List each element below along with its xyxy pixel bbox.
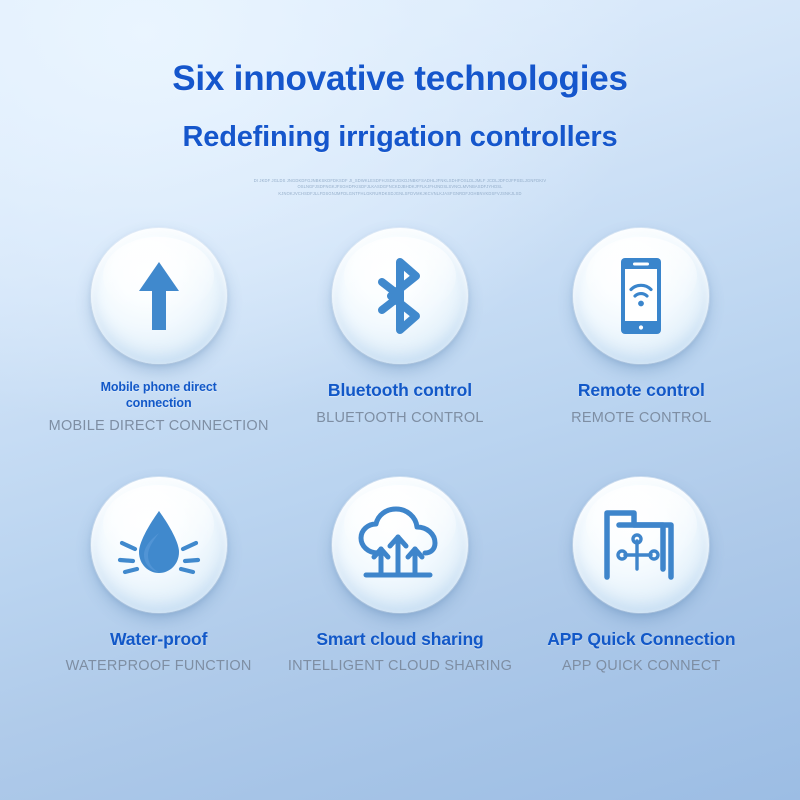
feature-title: APP Quick Connection: [521, 629, 762, 650]
feature-title-line-1: Mobile phone direct: [101, 380, 217, 394]
feature-title: Smart cloud sharing: [279, 629, 520, 650]
folder-network-icon: [601, 507, 681, 583]
feature-icon-bubble: [332, 228, 468, 364]
feature-subtitle: BLUETOOTH CONTROL: [279, 410, 520, 427]
feature-icon-bubble: [332, 477, 468, 613]
feature-labels: Remote control REMOTE CONTROL: [521, 380, 762, 427]
feature-card-mobile-direct-connection: Mobile phone direct connection MOBILE DI…: [38, 228, 279, 435]
feature-card-bluetooth-control: Bluetooth control BLUETOOTH CONTROL: [279, 228, 520, 435]
feature-subtitle: INTELLIGENT CLOUD SHARING: [279, 658, 520, 675]
feature-subtitle: REMOTE CONTROL: [521, 410, 762, 427]
feature-subtitle: APP QUICK CONNECT: [521, 658, 762, 675]
feature-labels: Bluetooth control BLUETOOTH CONTROL: [279, 380, 520, 427]
feature-labels: APP Quick Connection APP QUICK CONNECT: [521, 629, 762, 676]
poster-root: Six innovative technologies Redefining i…: [0, 0, 800, 800]
feature-card-waterproof: Water-proof WATERPROOF FUNCTION: [38, 477, 279, 676]
feature-labels: Smart cloud sharing INTELLIGENT CLOUD SH…: [279, 629, 520, 676]
feature-card-smart-cloud-sharing: Smart cloud sharing INTELLIGENT CLOUD SH…: [279, 477, 520, 676]
filler-line-1: DI JKDF JGLDS JNGDKDFGJNBKSKDFDKSDF JI_S…: [222, 178, 578, 185]
feature-card-app-quick-connection: APP Quick Connection APP QUICK CONNECT: [521, 477, 762, 676]
phone-wifi-icon: [611, 255, 671, 337]
poster-header: Six innovative technologies Redefining i…: [0, 0, 800, 155]
page-subtitle: Redefining irrigation controllers: [0, 120, 800, 154]
filler-paragraph: DI JKDF JGLDS JNGDKDFGJNBKSKDFDKSDF JI_S…: [222, 178, 578, 198]
feature-title: Mobile phone direct connection: [38, 380, 279, 411]
filler-line-3: KJNOKJVCHSDFJLLFDSGNJMFDLGNTFHLGKRURDKSD…: [222, 191, 578, 198]
feature-icon-bubble: [573, 477, 709, 613]
feature-labels: Water-proof WATERPROOF FUNCTION: [38, 629, 279, 676]
feature-title: Water-proof: [38, 629, 279, 650]
feature-title: Bluetooth control: [279, 380, 520, 401]
feature-card-remote-control: Remote control REMOTE CONTROL: [521, 228, 762, 435]
feature-icon-bubble: [573, 228, 709, 364]
feature-title: Remote control: [521, 380, 762, 401]
water-drop-icon: [113, 505, 205, 585]
cloud-upload-icon: [352, 505, 448, 585]
feature-subtitle: WATERPROOF FUNCTION: [38, 658, 279, 675]
feature-icon-bubble: [91, 477, 227, 613]
filler-line-2: OSLNGFJSDFNGKJFSGHDFKISDFJLKASDGFNCKDJBH…: [222, 184, 578, 191]
up-arrow-icon: [128, 257, 190, 335]
feature-grid: Mobile phone direct connection MOBILE DI…: [0, 228, 800, 675]
page-title: Six innovative technologies: [0, 58, 800, 99]
bluetooth-icon: [369, 254, 431, 338]
feature-labels: Mobile phone direct connection MOBILE DI…: [38, 380, 279, 435]
feature-title-line-2: connection: [126, 396, 192, 410]
feature-icon-bubble: [91, 228, 227, 364]
feature-subtitle: MOBILE DIRECT CONNECTION: [38, 418, 279, 435]
